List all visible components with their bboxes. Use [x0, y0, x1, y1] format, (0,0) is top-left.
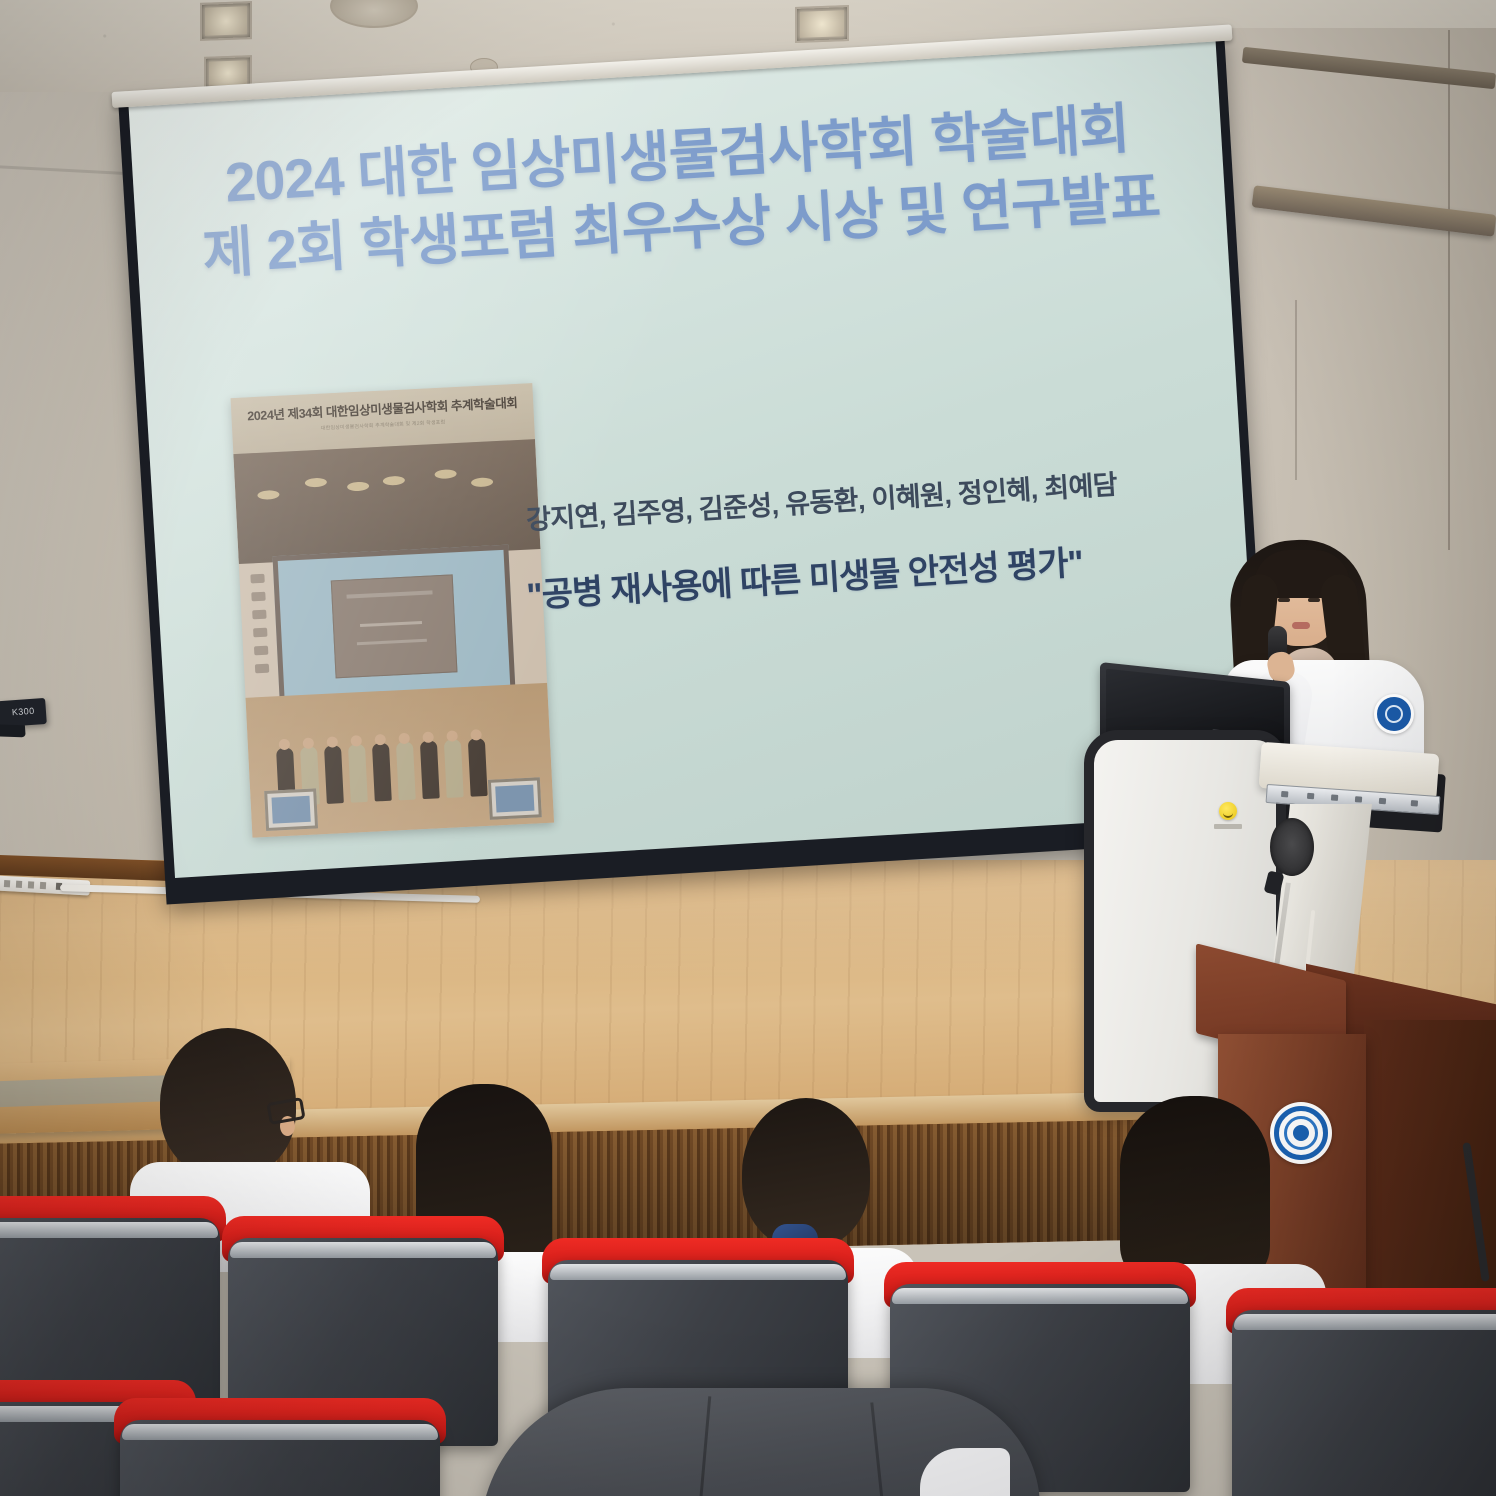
poster-stage: [245, 683, 554, 838]
ceiling-downlight-icon: [200, 1, 252, 41]
seat-chrome-trim: [122, 1424, 438, 1440]
auditorium-seat[interactable]: [120, 1398, 440, 1496]
poster-lamp-icon: [434, 469, 456, 479]
seat-chrome-trim: [550, 1264, 846, 1280]
seat-back: [1232, 1310, 1496, 1496]
wall-seam: [1448, 30, 1450, 550]
lab-coat-emblem-icon: [1374, 694, 1414, 734]
slide-title-line2: 제 2회 학생포럼 최우수상 시상 및 연구발표: [136, 158, 1227, 294]
slide-authors: 강지연, 김주영, 김준성, 유동환, 이혜원, 정인혜, 최예담: [525, 456, 1223, 537]
k300-label: K300: [12, 706, 35, 718]
slide-research-title: "공병 재사용에 따른 미생물 안전성 평가": [525, 526, 1236, 618]
auditorium-seat[interactable]: [1232, 1288, 1496, 1496]
podium-side-panel: [1364, 1020, 1496, 1312]
seat-chrome-trim: [1234, 1314, 1496, 1330]
slide-title: 2024 대한 임상미생물검사학회 학술대회 제 2회 학생포럼 최우수상 시상…: [131, 88, 1226, 294]
seat-chrome-trim: [0, 1222, 218, 1238]
poster-hall-ceiling: [233, 439, 540, 564]
auditorium-scene: K300 2024 대한 임상미생물검사학회 학술대회 제 2회 학생포럼 최우…: [0, 0, 1496, 1496]
poster-lamp-icon: [257, 490, 279, 500]
poster-lamp-icon: [347, 481, 369, 491]
poster-banner-title: 2024년 제34회 대한임상미생물검사학회 추계학술대회: [231, 391, 534, 425]
poster-banner: 2024년 제34회 대한임상미생물검사학회 추계학술대회 대한임상미생물검사학…: [231, 383, 535, 455]
seat-chrome-trim: [230, 1242, 496, 1258]
ceiling-speaker-icon: [330, 0, 418, 28]
poster-lamp-icon: [471, 477, 493, 487]
seat-chrome-trim: [892, 1288, 1188, 1304]
smiley-sticker-icon: [1219, 802, 1237, 820]
wall-mark: [1295, 300, 1297, 480]
poster-monitor-icon: [488, 777, 542, 820]
poster-slide: [331, 574, 458, 678]
poster-projection-screen: [272, 545, 515, 707]
poster-lamp-icon: [383, 476, 405, 486]
slide-poster-photo: 2024년 제34회 대한임상미생물검사학회 추계학술대회 대한임상미생물검사학…: [231, 383, 555, 837]
poster-monitor-icon: [264, 788, 318, 831]
poster-banner-subtitle: 대한임상미생물검사학회 추계학술대회 및 제2회 학생포럼: [232, 414, 534, 436]
lectern-speaker-icon: [1270, 818, 1314, 876]
lectern-label: [1214, 824, 1242, 829]
ceiling-downlight-icon: [795, 5, 849, 43]
eyeglasses-icon: [266, 1097, 305, 1125]
audience-head: [1120, 1096, 1270, 1286]
poster-side-icons: [247, 565, 273, 690]
slide-title-line1: 2024 대한 임상미생물검사학회 학술대회: [131, 88, 1222, 224]
poster-lamp-icon: [305, 478, 327, 488]
k300-wall-device: K300: [0, 698, 47, 728]
